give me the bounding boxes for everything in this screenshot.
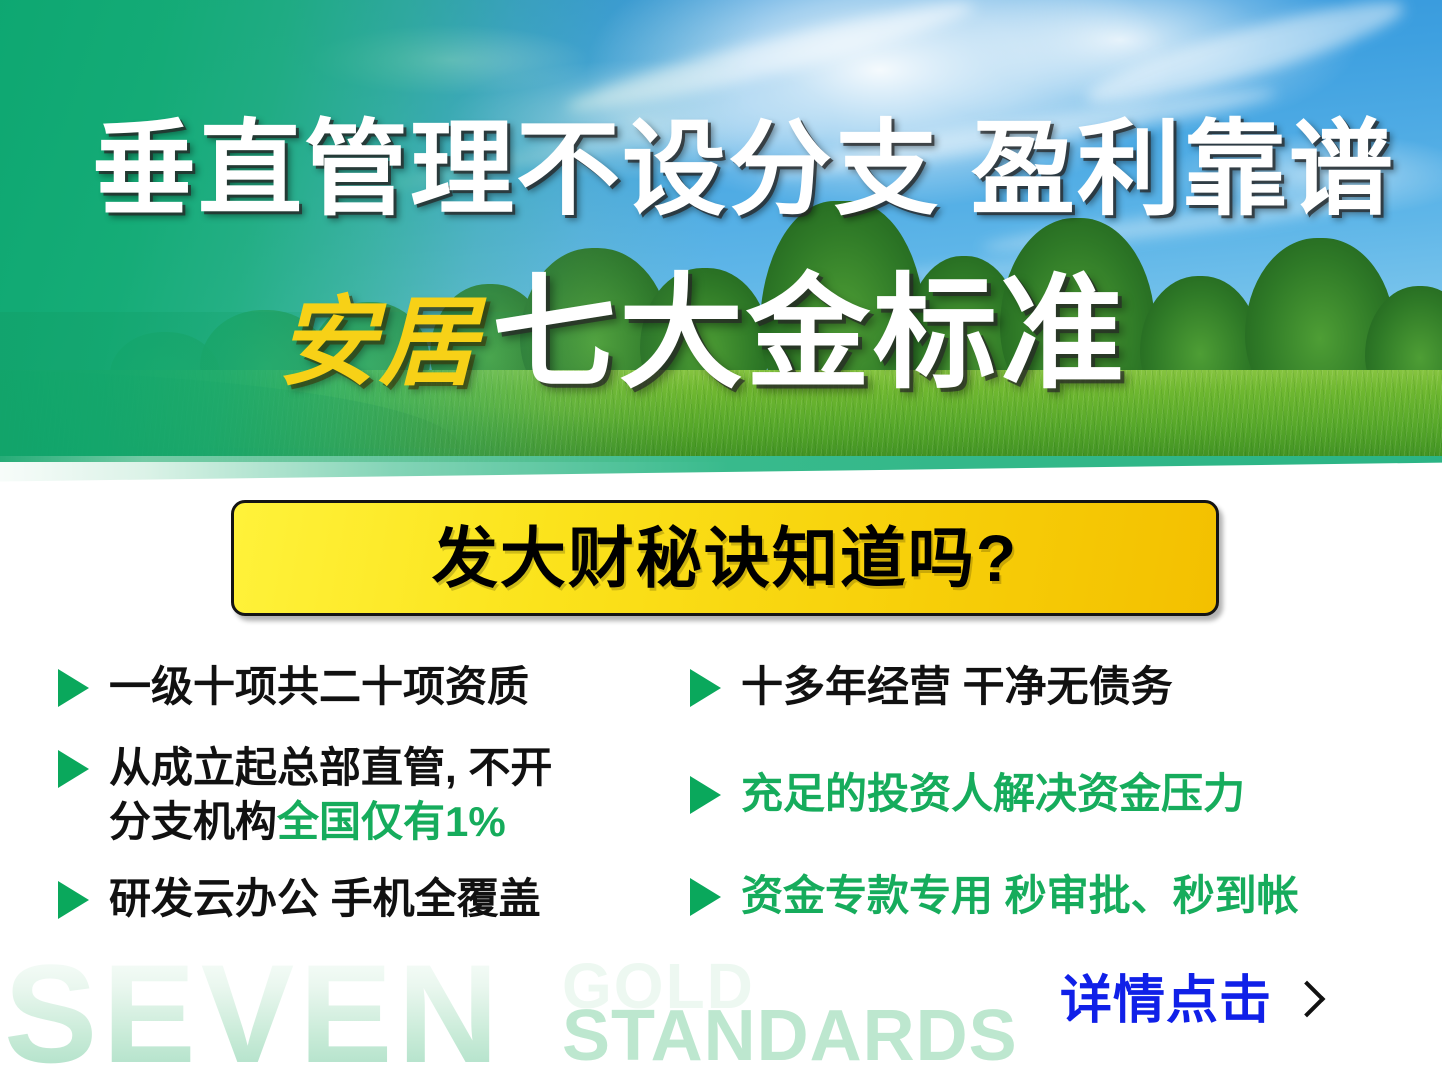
feature-item: 充足的投资人解决资金压力	[690, 767, 1410, 822]
feature-list: 一级十项共二十项资质 从成立起总部直管, 不开 分支机构全国仅有1% 研发云办公…	[0, 660, 1442, 990]
hero-headline-seven-standards: 七大金标准	[492, 272, 1127, 396]
feature-item-label: 研发云办公 手机全覆盖	[109, 872, 541, 927]
hero-copy: 垂直管理不设分支 盈利靠谱 安居七大金标准	[0, 0, 1442, 462]
feature-item-label: 一级十项共二十项资质	[109, 660, 529, 715]
hero-divider-strip-fill	[0, 456, 1442, 482]
bullet-arrow-icon	[690, 878, 721, 916]
feature-item-label-highlight: 全国仅有1%	[277, 798, 506, 845]
details-cta-link[interactable]: 详情点击	[1060, 975, 1320, 1027]
hook-question-banner[interactable]: 发大财秘诀知道吗?	[231, 500, 1219, 616]
chevron-right-icon	[1289, 981, 1326, 1018]
hero-divider-strip	[0, 456, 1442, 488]
bullet-arrow-icon	[58, 881, 89, 919]
feature-item: 资金专款专用 秒审批、秒到帐	[690, 869, 1410, 924]
feature-column-left: 一级十项共二十项资质 从成立起总部直管, 不开 分支机构全国仅有1% 研发云办公…	[58, 660, 678, 952]
watermark-standards: STANDARDS	[562, 1000, 1018, 1066]
hero-banner: 垂直管理不设分支 盈利靠谱 安居七大金标准	[0, 0, 1442, 462]
hero-headline-primary: 垂直管理不设分支 盈利靠谱	[92, 118, 1395, 222]
feature-column-right: 十多年经营 干净无债务 充足的投资人解决资金压力 资金专款专用 秒审批、秒到帐	[690, 660, 1410, 950]
feature-item: 一级十项共二十项资质	[58, 660, 678, 715]
hook-question-text: 发大财秘诀知道吗?	[432, 525, 1018, 591]
bullet-arrow-icon	[58, 669, 89, 707]
feature-item: 十多年经营 干净无债务	[690, 660, 1410, 715]
feature-item-label: 从成立起总部直管, 不开 分支机构全国仅有1%	[109, 741, 552, 850]
feature-item: 从成立起总部直管, 不开 分支机构全国仅有1%	[58, 741, 678, 850]
hero-headline-secondary: 安居七大金标准	[278, 272, 1127, 396]
bullet-arrow-icon	[58, 750, 89, 788]
bullet-arrow-icon	[690, 669, 721, 707]
feature-item-label: 资金专款专用 秒审批、秒到帐	[741, 869, 1299, 924]
feature-item-label: 十多年经营 干净无债务	[741, 660, 1173, 715]
details-cta-label: 详情点击	[1060, 975, 1272, 1027]
feature-item-label: 充足的投资人解决资金压力	[741, 767, 1245, 822]
brand-mark-anju: 安居	[278, 293, 480, 391]
bullet-arrow-icon	[690, 776, 721, 814]
feature-item: 研发云办公 手机全覆盖	[58, 872, 678, 927]
